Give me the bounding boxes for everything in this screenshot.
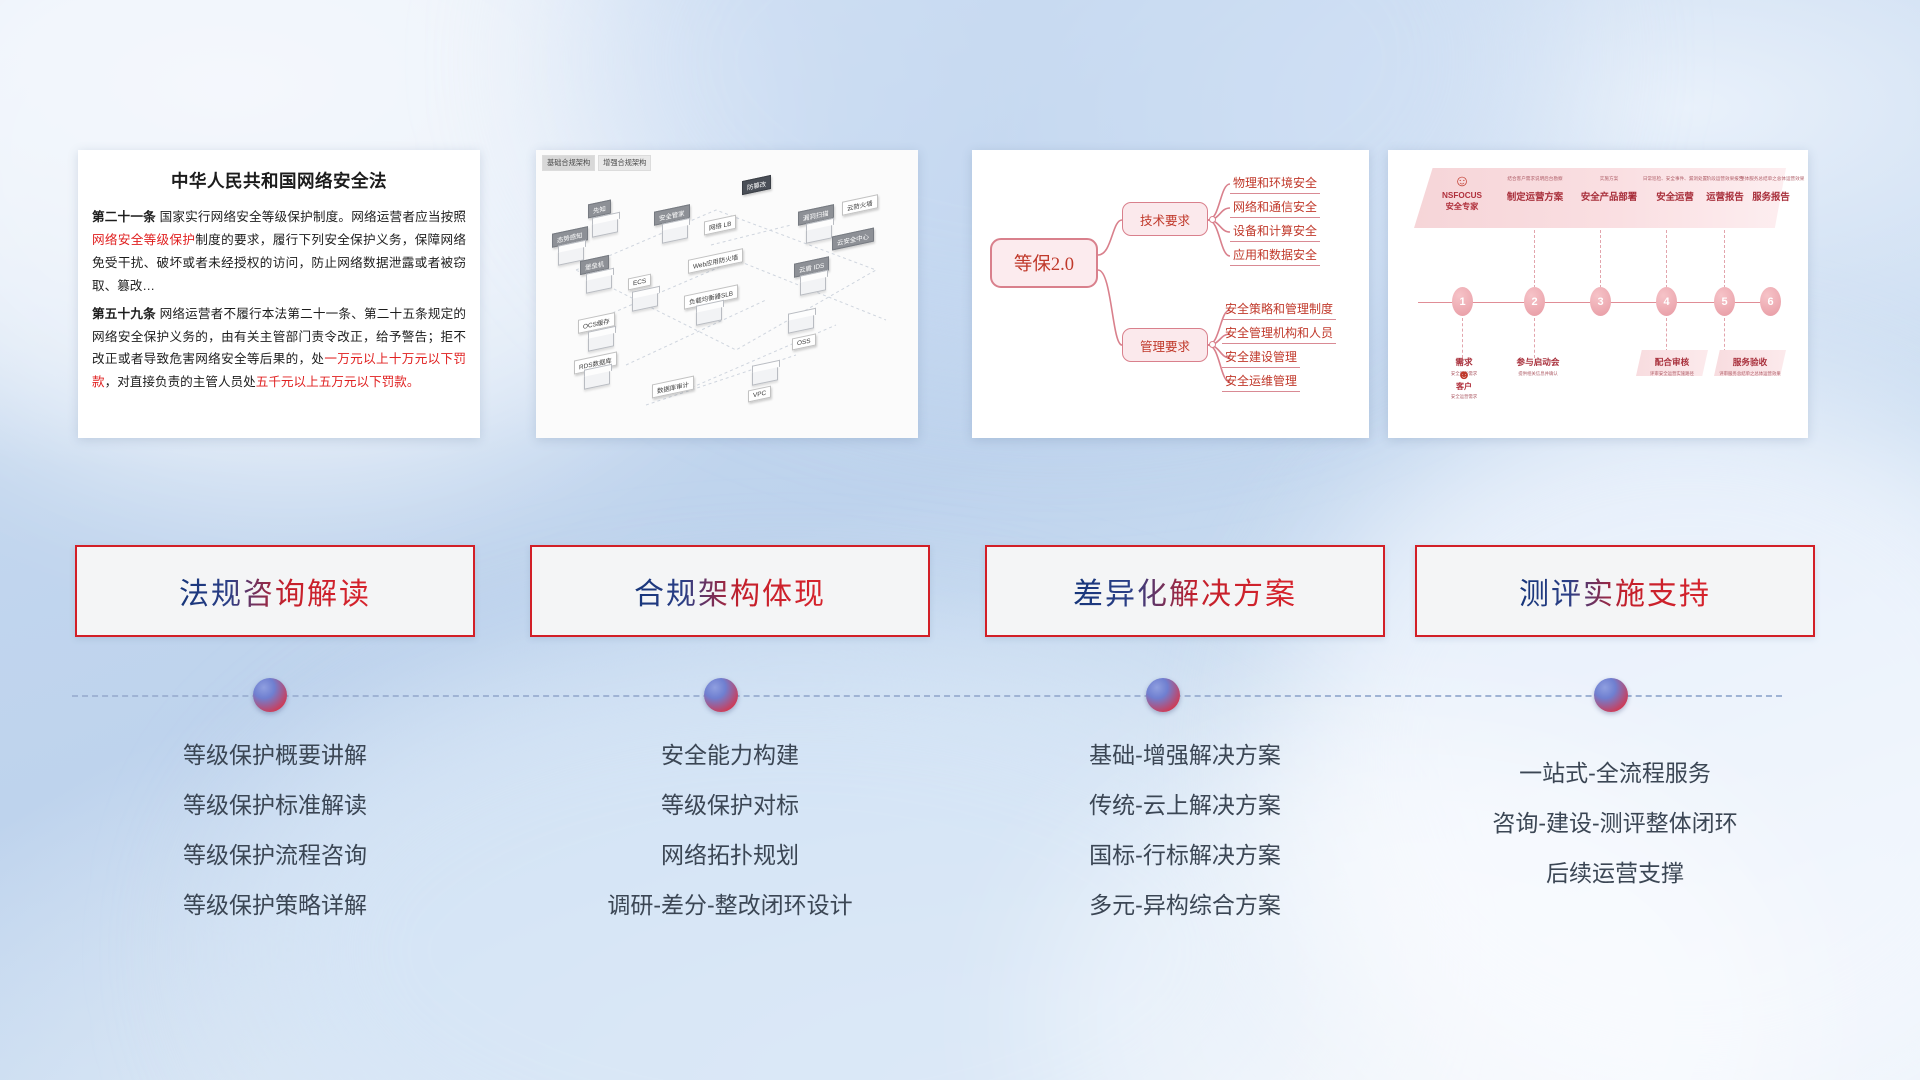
list-item: 等级保护策略详解 [75, 880, 475, 930]
law-paragraph: 第五十九条 网络运营者不履行本法第二十一条、第二十五条规定的网络安全保护义务的，… [92, 303, 466, 395]
law-title: 中华人民共和国网络安全法 [78, 168, 480, 193]
law-article-number: 第二十一条 [92, 210, 156, 224]
nsfocus-step-title: 服务报告 [1740, 189, 1802, 203]
nsfocus-step-node: 4 [1656, 287, 1677, 316]
list-item: 咨询-建设-测评整体闭环 [1415, 798, 1815, 848]
mindmap-branch-management: 管理要求 [1122, 328, 1208, 362]
list-item: 等级保护流程咨询 [75, 830, 475, 880]
section-title-box-4[interactable]: 测评实施支持 [1415, 545, 1815, 637]
mindmap-leaf: 安全运维管理 [1222, 372, 1300, 392]
architecture-tabs: 基础合规架构 增强合规架构 [542, 155, 651, 171]
law-text-highlight: 网络安全等级保护 [92, 233, 195, 247]
nsfocus-dropline [1462, 318, 1463, 358]
nsfocus-step-head: 结合客户需求说明后台勘察 制定运营方案 [1498, 176, 1572, 203]
list-item: 调研-差分-整改闭环设计 [530, 880, 930, 930]
nsfocus-footer-step: 服务验收 评审服务总结单之总体运营效果 [1714, 356, 1786, 377]
timeline-row [0, 660, 1920, 720]
tab-enhanced-architecture[interactable]: 增强合规架构 [598, 155, 651, 171]
nsfocus-step-node: 2 [1524, 287, 1545, 316]
card-compliance-architecture: 基础合规架构 增强合规架构 防篡改 安全管家 先知 态势感知 堡垒机 [536, 150, 918, 438]
mindmap-leaf: 网络和通信安全 [1230, 198, 1320, 218]
list-item: 安全能力构建 [530, 730, 930, 780]
list-item: 网络拓扑规划 [530, 830, 930, 880]
law-text: ，对直接负责的主管人员处 [105, 375, 256, 389]
mindmap-leaf: 应用和数据安全 [1230, 246, 1320, 266]
nsfocus-dropline [1666, 230, 1667, 288]
nsfocus-customer-sub: 安全运营需求 [1432, 394, 1496, 400]
list-item: 一站式-全流程服务 [1415, 748, 1815, 798]
list-item: 后续运营支撑 [1415, 848, 1815, 898]
section-title-box-1[interactable]: 法规咨询解读 [75, 545, 475, 637]
list-item: 等级保护标准解读 [75, 780, 475, 830]
law-article-number: 第五十九条 [92, 307, 156, 321]
list-item: 基础-增强解决方案 [985, 730, 1385, 780]
nsfocus-step-node: 1 [1452, 287, 1473, 316]
mindmap-connector-dot [1209, 341, 1216, 348]
timeline-dot-2 [704, 678, 738, 712]
nsfocus-expert-block: ☺ NSFOCUS 安全专家 [1432, 174, 1492, 212]
nsfocus-step-sub: 实施方案 [1572, 176, 1646, 182]
mindmap: 等保2.0 技术要求 管理要求 物理和环境安全 网络和通信安全 设备和计算安全 … [972, 150, 1369, 438]
detail-list-2: 安全能力构建 等级保护对标 网络拓扑规划 调研-差分-整改闭环设计 [530, 730, 930, 930]
nsfocus-step-sub: 结合客户需求说明后台勘察 [1498, 176, 1572, 182]
section-title-box-3[interactable]: 差异化解决方案 [985, 545, 1385, 637]
card-nsfocus-service-timeline: ☺ NSFOCUS 安全专家 结合客户需求说明后台勘察 制定运营方案 实施方案 … [1388, 150, 1808, 438]
detail-list-4: 一站式-全流程服务 咨询-建设-测评整体闭环 后续运营支撑 [1415, 748, 1815, 898]
nsfocus-dropline [1666, 318, 1667, 352]
nsfocus-step-sub: 整体服务总结单之总体运营效果 [1740, 176, 1802, 182]
timeline-dashed-line [72, 695, 1782, 697]
reference-cards-row: 中华人民共和国网络安全法 第二十一条 国家实行网络安全等级保护制度。网络运营者应… [0, 150, 1920, 450]
card-cybersecurity-law: 中华人民共和国网络安全法 第二十一条 国家实行网络安全等级保护制度。网络运营者应… [78, 150, 480, 438]
list-item: 等级保护对标 [530, 780, 930, 830]
list-item: 多元-异构综合方案 [985, 880, 1385, 930]
timeline-dot-4 [1594, 678, 1628, 712]
mindmap-leaf: 安全管理机构和人员 [1222, 324, 1336, 344]
detail-list-3: 基础-增强解决方案 传统-云上解决方案 国标-行标解决方案 多元-异构综合方案 [985, 730, 1385, 930]
mindmap-leaf: 安全策略和管理制度 [1222, 300, 1336, 320]
section-title-row: 法规咨询解读 合规架构体现 差异化解决方案 测评实施支持 [0, 545, 1920, 637]
customer-icon: ☻ [1432, 368, 1496, 381]
section-title-text: 法规咨询解读 [179, 569, 371, 613]
nsfocus-dropline [1724, 230, 1725, 288]
nsfocus-step-head: 实施方案 安全产品部署 [1572, 176, 1646, 203]
detail-lists-row: 等级保护概要讲解 等级保护标准解读 等级保护流程咨询 等级保护策略详解 安全能力… [0, 730, 1920, 960]
nsfocus-footer-title: 参与启动会 [1496, 356, 1580, 368]
nsfocus-step-node: 6 [1760, 287, 1781, 316]
nsfocus-customer-block: ☻ 客户 安全运营需求 [1432, 368, 1496, 400]
detail-list-1: 等级保护概要讲解 等级保护标准解读 等级保护流程咨询 等级保护策略详解 [75, 730, 475, 930]
mindmap-leaf: 物理和环境安全 [1230, 174, 1320, 194]
nsfocus-timeline: ☺ NSFOCUS 安全专家 结合客户需求说明后台勘察 制定运营方案 实施方案 … [1388, 150, 1808, 438]
nsfocus-footer-sub: 评审安全运营实施路径 [1636, 371, 1708, 377]
architecture-diagram: 基础合规架构 增强合规架构 防篡改 安全管家 先知 态势感知 堡垒机 [536, 150, 918, 438]
mindmap-leaf: 安全建设管理 [1222, 348, 1300, 368]
section-title-text: 合规架构体现 [634, 569, 826, 613]
nsfocus-step-node: 3 [1590, 287, 1611, 316]
law-paragraph: 第二十一条 国家实行网络安全等级保护制度。网络运营者应当按照网络安全等级保护制度… [92, 206, 466, 298]
nsfocus-dropline [1600, 230, 1601, 288]
nsfocus-dropline [1534, 230, 1535, 288]
card-mindmap-dengbao: 等保2.0 技术要求 管理要求 物理和环境安全 网络和通信安全 设备和计算安全 … [972, 150, 1369, 438]
section-title-text: 差异化解决方案 [1073, 569, 1297, 613]
list-item: 等级保护概要讲解 [75, 730, 475, 780]
mindmap-leaf: 设备和计算安全 [1230, 222, 1320, 242]
timeline-dot-1 [253, 678, 287, 712]
tab-basic-architecture[interactable]: 基础合规架构 [542, 155, 595, 171]
mindmap-root-node: 等保2.0 [990, 238, 1098, 288]
nsfocus-step-title: 安全产品部署 [1572, 189, 1646, 203]
nsfocus-dropline [1534, 318, 1535, 358]
nsfocus-expert-line2: 安全专家 [1432, 200, 1492, 212]
nsfocus-step-head: 整体服务总结单之总体运营效果 服务报告 [1740, 176, 1802, 203]
list-item: 传统-云上解决方案 [985, 780, 1385, 830]
nsfocus-footer-sub: 提供相关信息并确认 [1496, 371, 1580, 377]
list-item: 国标-行标解决方案 [985, 830, 1385, 880]
section-title-box-2[interactable]: 合规架构体现 [530, 545, 930, 637]
nsfocus-customer-label: 客户 [1432, 381, 1496, 392]
law-text: 国家实行网络安全等级保护制度。网络运营者应当按照 [156, 210, 466, 224]
mindmap-branch-technical: 技术要求 [1122, 202, 1208, 236]
section-title-text: 测评实施支持 [1519, 569, 1711, 613]
mindmap-connector-dot [1209, 216, 1216, 223]
nsfocus-footer-step: 配合审核 评审安全运营实施路径 [1636, 356, 1708, 377]
nsfocus-expert-line1: NSFOCUS [1432, 191, 1492, 200]
nsfocus-step-title: 制定运营方案 [1498, 189, 1572, 203]
nsfocus-footer-title: 服务验收 [1714, 356, 1786, 368]
law-body: 第二十一条 国家实行网络安全等级保护制度。网络运营者应当按照网络安全等级保护制度… [78, 206, 480, 394]
nsfocus-step-node: 5 [1714, 287, 1735, 316]
nsfocus-dropline [1724, 318, 1725, 352]
timeline-dot-3 [1146, 678, 1180, 712]
person-star-icon: ☺ [1432, 174, 1492, 190]
nsfocus-footer-step: 参与启动会 提供相关信息并确认 [1496, 356, 1580, 377]
nsfocus-footer-sub: 评审服务总结单之总体运营效果 [1714, 371, 1786, 377]
law-text-highlight: 五千元以上五万元以下罚款。 [256, 375, 420, 389]
nsfocus-footer-title: 配合审核 [1636, 356, 1708, 368]
